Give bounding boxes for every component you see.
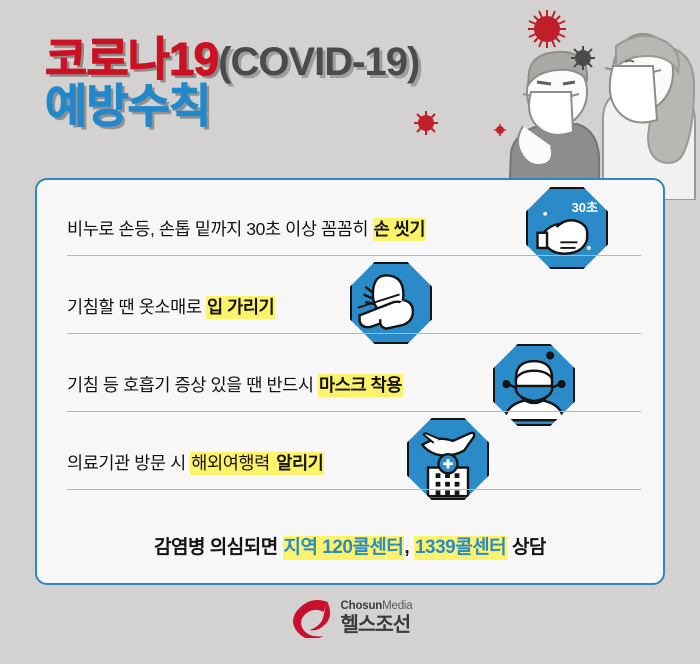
wear-mask-icon — [493, 344, 575, 426]
logo-brand-korean: 헬스조선 — [341, 615, 413, 635]
virus-small-dark-icon — [570, 45, 596, 71]
call-center-note: 감염병 의심되면 지역 120콜센터, 1339콜센터 상담 — [37, 532, 663, 559]
title-english: (COVID-19) — [218, 40, 419, 84]
rule-lead-text: 의료기관 방문 시 — [67, 453, 190, 473]
cough-sleeve-glyph — [352, 264, 430, 342]
cough-into-sleeve-icon — [350, 262, 432, 344]
call-center-1339: 1339콜센터 — [414, 536, 507, 560]
call-center-local-120: 지역 120콜센터 — [283, 536, 405, 560]
logo-brand-bold: Chosun — [341, 600, 383, 612]
rule-highlight-text: 입 가리기 — [206, 296, 275, 319]
hand-washing-duration-badge: 30초 — [572, 197, 598, 216]
rule-divider — [67, 489, 641, 490]
rule-row-wear-mask: 기침 등 호흡기 증상 있을 땐 반드시 마스크 착용 — [37, 346, 663, 426]
wear-mask-glyph — [495, 346, 573, 424]
title-line-2: 예방수칙 — [45, 83, 419, 130]
hand-washing-icon: 30초 — [526, 187, 608, 269]
rule-divider — [67, 255, 641, 256]
call-center-separator: , — [404, 537, 409, 558]
rule-text-hand-washing: 비누로 손등, 손톱 밑까지 30초 이상 꼼꼼히 손 씻기 — [67, 216, 426, 241]
masked-people-svg — [485, 0, 700, 200]
prevention-rules-panel: 비누로 손등, 손톱 밑까지 30초 이상 꼼꼼히 손 씻기 30초 기침할 땐… — [35, 178, 665, 585]
title-subtitle: 예방수칙 — [45, 80, 210, 132]
rule-row-hand-washing: 비누로 손등, 손톱 밑까지 30초 이상 꼼꼼히 손 씻기 30초 — [37, 190, 663, 270]
rule-row-travel-history: 의료기관 방문 시 해외여행력 알리기 — [37, 424, 663, 504]
virus-large-red-icon — [526, 8, 568, 50]
rule-highlight-text: 마스크 착용 — [318, 374, 403, 397]
chosun-c-glyph — [288, 598, 332, 638]
rule-row-cough-sleeve: 기침할 땐 옷소매로 입 가리기 — [37, 268, 663, 348]
rule-highlight-text: 알리기 — [275, 452, 324, 475]
masked-woman — [603, 34, 695, 200]
poster-canvas: 코로나19(COVID-19) 예방수칙 비누로 손등, 손톱 밑까지 30초 … — [0, 0, 700, 664]
title-line-1: 코로나19(COVID-19) — [45, 36, 419, 83]
logo-brand-line: ChosunMedia — [341, 601, 413, 613]
title-korean: 코로나19 — [45, 33, 218, 85]
rule-text-cough-sleeve: 기침할 땐 옷소매로 입 가리기 — [67, 294, 275, 319]
poster-title: 코로나19(COVID-19) 예방수칙 — [45, 36, 419, 130]
people-illustration — [485, 0, 700, 200]
rule-lead-text: 비누로 손등, 손톱 밑까지 30초 이상 꼼꼼히 — [67, 219, 373, 239]
call-center-lead: 감염병 의심되면 — [154, 537, 282, 558]
rule-highlight-text: 손 씻기 — [373, 218, 427, 241]
hospital-travel-history-icon — [407, 418, 489, 500]
chosun-media-logo: ChosunMedia 헬스조선 — [0, 598, 700, 650]
chosun-c-mark-icon — [288, 598, 332, 638]
hospital-airplane-glyph — [409, 420, 487, 498]
rule-lead-text: 기침 등 호흡기 증상 있을 땐 반드시 — [67, 375, 318, 395]
rule-divider — [67, 333, 641, 334]
logo-brand-light: Media — [382, 600, 412, 612]
rule-text-wear-mask: 기침 등 호흡기 증상 있을 땐 반드시 마스크 착용 — [67, 372, 403, 397]
call-center-tail: 상담 — [507, 537, 546, 558]
rule-text-travel-history: 의료기관 방문 시 해외여행력 알리기 — [67, 450, 324, 475]
virus-tiny-red-icon — [493, 123, 507, 137]
rule-lead-text: 기침할 땐 옷소매로 — [67, 297, 206, 317]
rule-highlight-plain: 해외여행력 — [190, 452, 275, 475]
rule-divider — [67, 411, 641, 412]
